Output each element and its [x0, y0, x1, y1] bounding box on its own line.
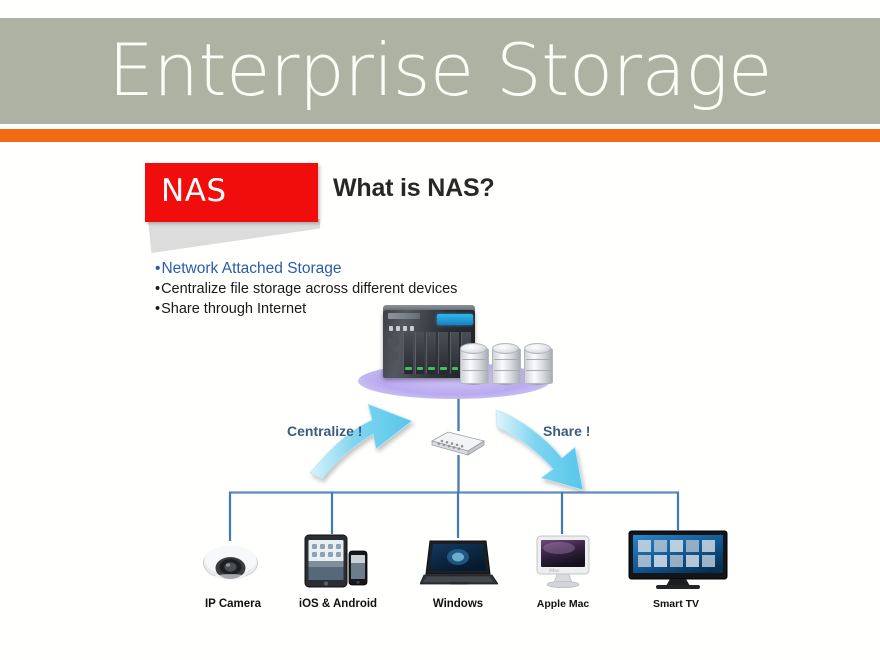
svg-text:iMac: iMac [549, 568, 560, 574]
device-label-mobile: iOS & Android [299, 598, 377, 610]
imac-icon: iMac [533, 534, 593, 588]
tablet-phone-icon [304, 534, 370, 588]
device-label-mac: Apple Mac [537, 598, 590, 610]
laptop-icon [420, 538, 498, 588]
disk-stack-icon [524, 343, 551, 385]
share-label: Share ! [543, 423, 590, 439]
centralize-arrow-icon [310, 404, 412, 479]
device-label-smart-tv: Smart TV [653, 598, 699, 610]
network-switch-icon [430, 428, 486, 458]
nas-topology-diagram: Centralize ! Share ! [0, 0, 880, 660]
smart-tv-icon [628, 530, 728, 590]
disk-stack-icon [460, 343, 487, 385]
disk-stack-icon [492, 343, 519, 385]
device-label-ip-camera: IP Camera [205, 598, 261, 610]
ip-camera-icon [201, 541, 260, 587]
device-label-windows: Windows [433, 598, 483, 610]
share-arrow-icon [496, 410, 583, 490]
slide: Enterprise Storage NAS What is NAS? •Net… [0, 0, 880, 660]
centralize-label: Centralize ! [287, 423, 362, 439]
